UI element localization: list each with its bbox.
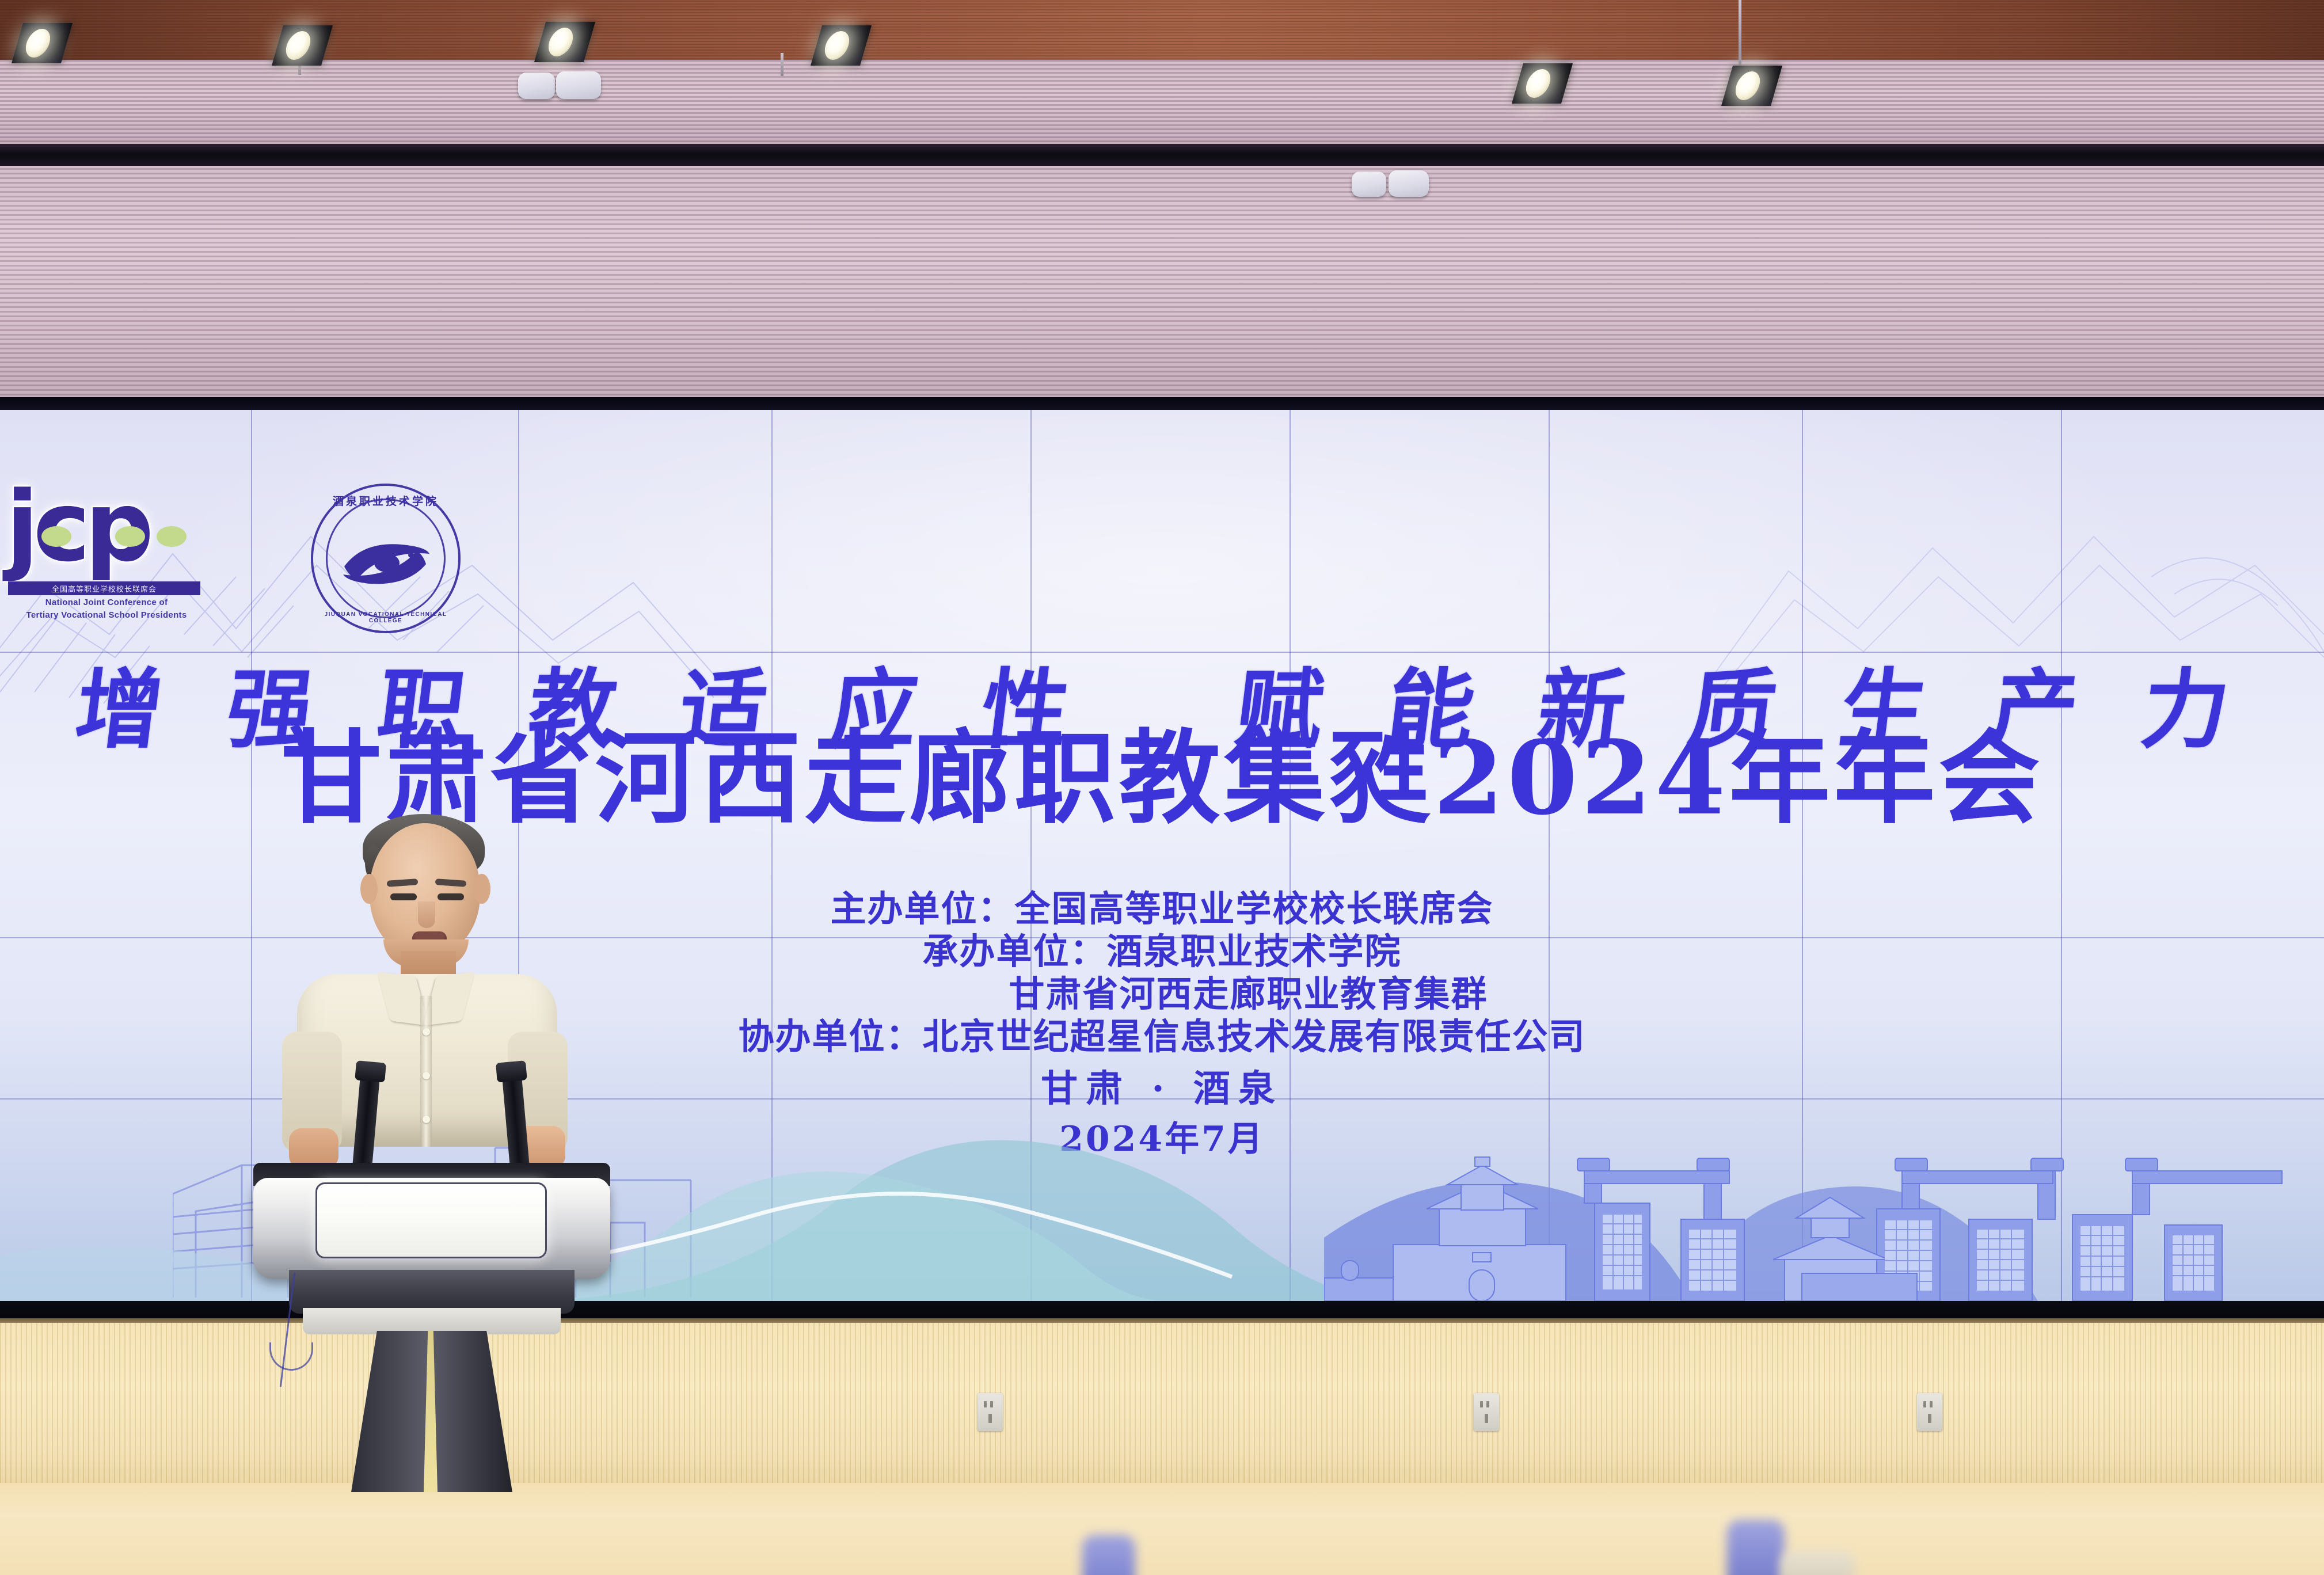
foreground-object — [1780, 1551, 1855, 1575]
podium — [253, 1163, 610, 1485]
conference-hall-photo: jcp 全国高等职业学校校长联席会 National Joint Confere… — [0, 0, 2324, 1575]
jcp-accent-dot-icon — [41, 526, 71, 547]
shirt-button-icon — [423, 1028, 430, 1036]
led-screen-top-bezel — [0, 397, 2324, 411]
city-skyline-graphic — [1324, 1123, 2324, 1301]
jcp-en-line1: National Joint Conference of — [6, 598, 207, 607]
ceiling-rod — [781, 53, 783, 76]
foreground-chair — [1082, 1535, 1135, 1575]
speaker-shirt-placket — [420, 996, 432, 1147]
seal-swirl-icon — [340, 528, 432, 592]
power-outlet-icon — [1474, 1393, 1499, 1431]
seal-en-name: JIUQUAN VOCATIONAL TECHNICAL COLLEGE — [311, 611, 461, 624]
ceiling-vent-icon — [1389, 170, 1429, 197]
jcp-accent-dot-icon — [115, 526, 145, 547]
jcp-cn-name-bar: 全国高等职业学校校长联席会 — [8, 581, 200, 595]
ceiling-lower-band — [0, 166, 2324, 405]
ceiling-wood-panel — [0, 0, 2324, 62]
podium-apron — [289, 1270, 575, 1314]
shirt-button-icon — [423, 1116, 430, 1123]
power-outlet-icon — [977, 1393, 1003, 1431]
college-seal-logo: 酒泉职业技术学院 JIUQUAN VOCATIONAL TECHNICAL CO… — [311, 484, 461, 633]
ceiling-rod — [1739, 0, 1741, 69]
power-outlet-icon — [1917, 1393, 1942, 1431]
jcp-logo: jcp 全国高等职业学校校长联席会 National Joint Confere… — [6, 484, 248, 610]
ceiling-vent-icon — [518, 73, 555, 99]
speaker-ear — [473, 874, 490, 904]
seal-cn-name: 酒泉职业技术学院 — [311, 493, 461, 508]
ceiling-vent-icon — [1352, 172, 1386, 197]
speaker-eye — [438, 893, 464, 900]
ceiling-upper-band — [0, 60, 2324, 146]
shirt-button-icon — [423, 1072, 430, 1079]
podium-apron-lower — [303, 1308, 561, 1334]
jcp-cn-name: 全国高等职业学校校长联席会 — [52, 583, 157, 594]
speaker-eye — [390, 893, 417, 900]
speaker-nose — [418, 901, 435, 928]
ceiling-vent-icon — [556, 71, 601, 99]
foreground-chair — [1727, 1520, 1785, 1575]
podium-front-panel — [315, 1182, 547, 1258]
hall-floor — [0, 1483, 2324, 1575]
ceiling-dark-reveal — [0, 144, 2324, 167]
speaker-ear — [360, 874, 378, 904]
jcp-en-line2: Tertiary Vocational School Presidents — [6, 610, 207, 620]
jcp-accent-dot-icon — [157, 526, 187, 547]
